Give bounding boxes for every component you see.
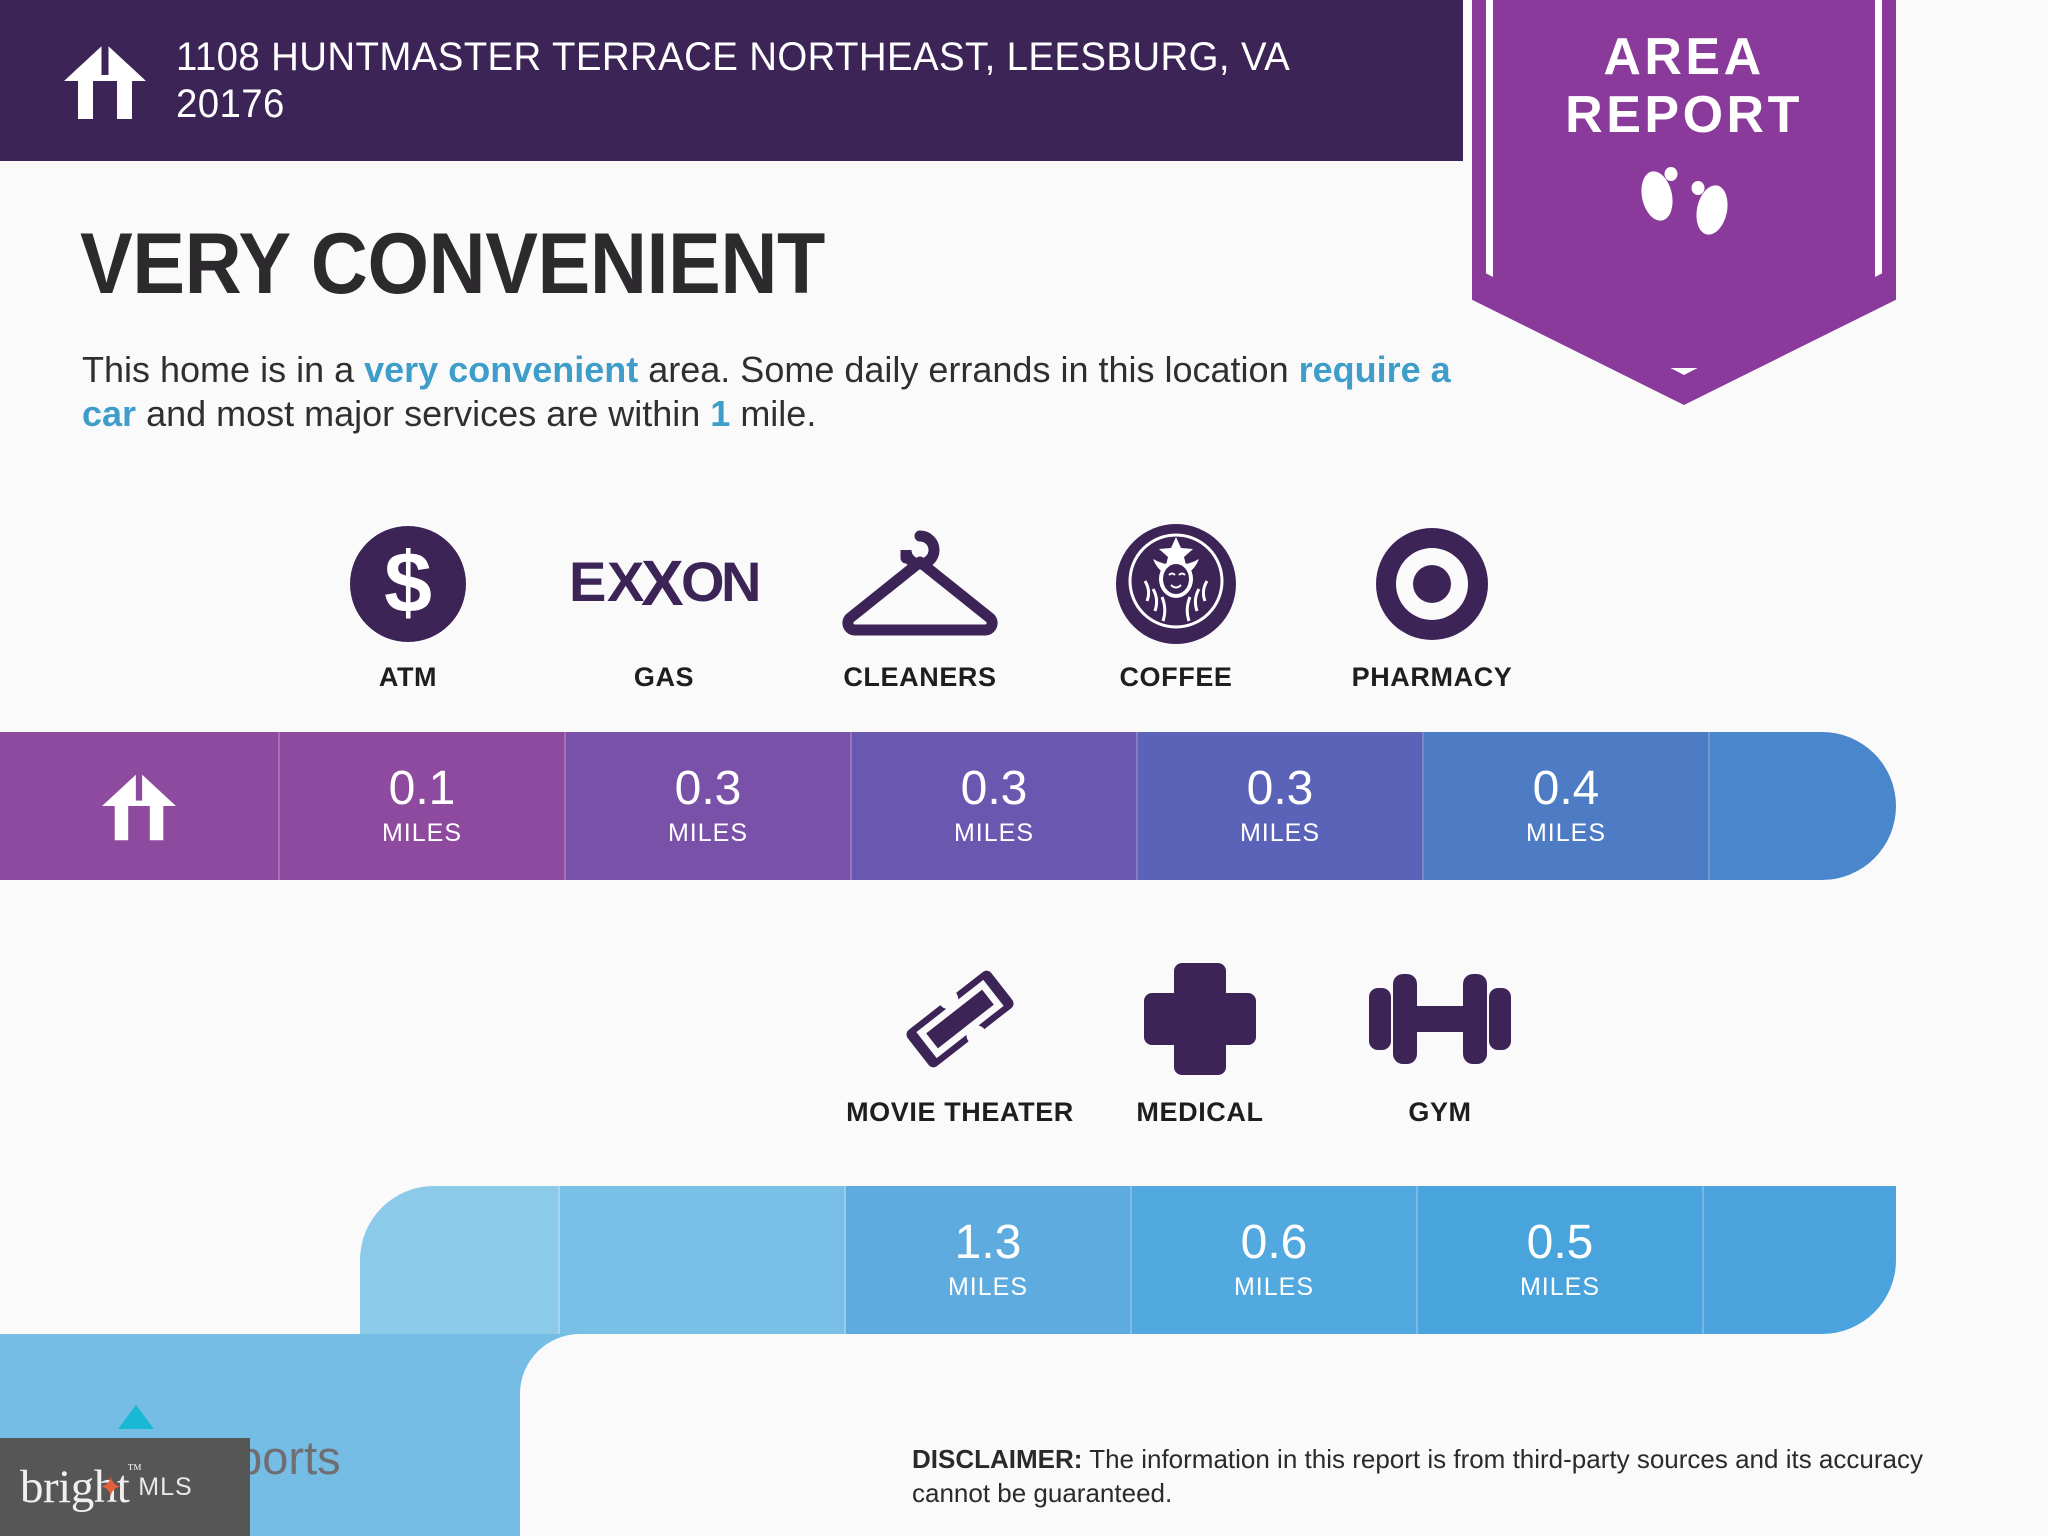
bar-tail-secondary: [1704, 1186, 1896, 1334]
dollar-circle-icon: $: [348, 520, 468, 648]
bar-lead-secondary: [360, 1186, 560, 1334]
svg-text:X: X: [641, 551, 684, 617]
distance-unit: MILES: [954, 819, 1034, 848]
summary-part-1: This home is in a: [82, 349, 364, 390]
summary-part-3: and most major services are within: [136, 393, 710, 434]
dumbbell-icon: [1365, 955, 1515, 1083]
distance-cell-atm: 0.1 MILES: [280, 732, 566, 880]
brand-suffix: MLS: [138, 1473, 192, 1502]
summary-highlight-distance: 1: [710, 393, 730, 434]
distance-value: 0.3: [1247, 765, 1314, 813]
svg-text:$: $: [384, 535, 432, 631]
amenity-movie-theater: MOVIE THEATER: [840, 955, 1080, 1165]
distance-unit: MILES: [668, 819, 748, 848]
trademark-icon: ™: [127, 1462, 141, 1479]
bar-tail-primary: [1710, 732, 1896, 880]
disclaimer-text: DISCLAIMER: The information in this repo…: [912, 1443, 1972, 1511]
amenity-label: GYM: [1408, 1097, 1471, 1128]
badge-title-line2: REPORT: [1472, 86, 1896, 144]
distance-cell-gas: 0.3 MILES: [566, 732, 852, 880]
distance-cell-gym: 0.5 MILES: [1418, 1186, 1704, 1334]
target-bullseye-icon: [1372, 520, 1492, 648]
property-address: 1108 HUNTMASTER TERRACE NORTHEAST, LEESB…: [176, 34, 1357, 128]
distance-bar-secondary: 1.3 MILES 0.6 MILES 0.5 MILES: [360, 1186, 1896, 1334]
distance-value: 0.5: [1527, 1219, 1594, 1267]
bar-home-cell: [0, 732, 280, 880]
amenity-gas: E X X O N GAS: [536, 520, 792, 720]
house-icon: [100, 770, 178, 842]
amenity-label: MEDICAL: [1136, 1097, 1263, 1128]
amenity-label: COFFEE: [1119, 662, 1232, 693]
area-report-badge: AREA REPORT: [1472, 0, 1896, 405]
distance-unit: MILES: [1520, 1273, 1600, 1302]
amenity-atm: $ ATM: [280, 520, 536, 720]
house-icon: [62, 41, 148, 121]
summary-part-4: mile.: [730, 393, 816, 434]
summary-highlight-convenience: very convenient: [364, 349, 638, 390]
movie-ticket-icon: [895, 955, 1025, 1083]
distance-cell-movie-theater: 1.3 MILES: [846, 1186, 1132, 1334]
amenity-label: CLEANERS: [843, 662, 996, 693]
bright-triangle-icon: [118, 1405, 154, 1429]
amenity-label: GAS: [634, 662, 694, 693]
bright-mls-logo: bright ✦ ™ MLS: [0, 1438, 250, 1536]
amenity-icon-row-secondary: MOVIE THEATER MEDICAL GYM: [840, 955, 1560, 1165]
amenity-cleaners: CLEANERS: [792, 520, 1048, 720]
distance-unit: MILES: [1234, 1273, 1314, 1302]
bar-lead-secondary-2: [560, 1186, 846, 1334]
medical-cross-icon: [1138, 955, 1262, 1083]
distance-unit: MILES: [382, 819, 462, 848]
hanger-icon: [840, 520, 1000, 648]
amenity-gym: GYM: [1320, 955, 1560, 1165]
svg-text:N: N: [721, 551, 759, 613]
distance-value: 0.1: [389, 765, 456, 813]
distance-cell-medical: 0.6 MILES: [1132, 1186, 1418, 1334]
distance-unit: MILES: [1526, 819, 1606, 848]
distance-value: 0.3: [961, 765, 1028, 813]
footprints-icon: [1472, 166, 1896, 242]
amenity-coffee: COFFEE: [1048, 520, 1304, 720]
amenity-icon-row-primary: $ ATM E X X O N GAS CLEANERS: [280, 520, 1560, 720]
distance-value: 0.4: [1533, 765, 1600, 813]
disclaimer-label: DISCLAIMER:: [912, 1444, 1082, 1474]
amenity-medical: MEDICAL: [1080, 955, 1320, 1165]
distance-cell-coffee: 0.3 MILES: [1138, 732, 1424, 880]
amenity-label: PHARMACY: [1352, 662, 1513, 693]
svg-text:E: E: [569, 551, 605, 613]
badge-title-line1: AREA: [1472, 28, 1896, 86]
svg-text:X: X: [607, 551, 644, 613]
page-title: VERY CONVENIENT: [80, 215, 825, 314]
summary-part-2: area. Some daily errands in this locatio…: [638, 349, 1298, 390]
starbucks-logo-icon: [1115, 520, 1237, 648]
amenity-label: ATM: [379, 662, 437, 693]
svg-text:O: O: [681, 551, 724, 613]
summary-paragraph: This home is in a very convenient area. …: [82, 348, 1482, 436]
distance-value: 0.3: [675, 765, 742, 813]
amenity-pharmacy: PHARMACY: [1304, 520, 1560, 720]
distance-unit: MILES: [1240, 819, 1320, 848]
distance-value: 0.6: [1241, 1219, 1308, 1267]
distance-unit: MILES: [948, 1273, 1028, 1302]
exxon-logo-icon: E X X O N: [569, 520, 759, 648]
badge-content: AREA REPORT: [1472, 28, 1896, 242]
distance-cell-cleaners: 0.3 MILES: [852, 732, 1138, 880]
header-bar: 1108 HUNTMASTER TERRACE NORTHEAST, LEESB…: [0, 0, 1463, 161]
amenity-label: MOVIE THEATER: [846, 1097, 1074, 1128]
distance-value: 1.3: [955, 1219, 1022, 1267]
distance-bar-primary: 0.1 MILES 0.3 MILES 0.3 MILES 0.3 MILES …: [0, 732, 1896, 880]
distance-cell-pharmacy: 0.4 MILES: [1424, 732, 1710, 880]
brand-star-icon: ✦: [98, 1474, 122, 1503]
